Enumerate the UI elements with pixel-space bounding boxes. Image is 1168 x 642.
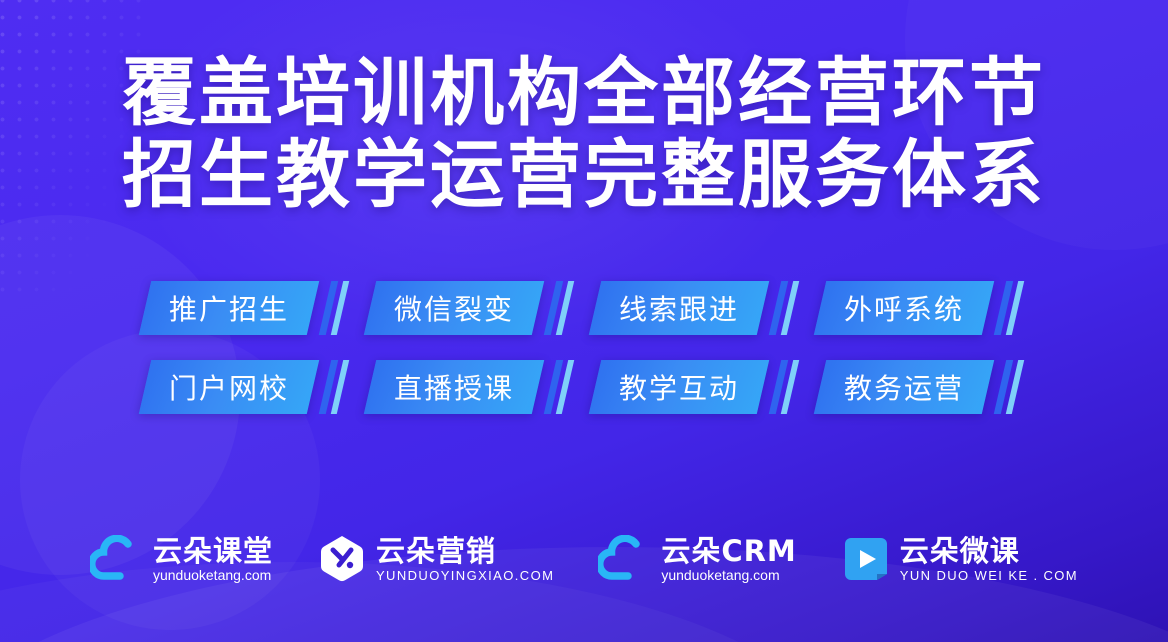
slash-separator-icon — [775, 360, 798, 414]
feature-tag[interactable]: 教学互动 — [589, 360, 769, 414]
feature-tag-row-2: 门户网校 直播授课 教学互动 教务运营 — [0, 360, 1168, 414]
slash-separator-icon — [1000, 360, 1023, 414]
headline-block: 覆盖培训机构全部经营环节 招生教学运营完整服务体系 — [0, 52, 1168, 216]
feature-tag-unit[interactable]: 门户网校 — [145, 360, 348, 414]
feature-tag-label: 教务运营 — [844, 367, 964, 407]
slash-separator-icon — [550, 281, 573, 335]
logo-name: 云朵课堂 — [153, 535, 273, 567]
cloud-icon — [90, 535, 144, 583]
feature-tag[interactable]: 直播授课 — [364, 360, 544, 414]
feature-tag-unit[interactable]: 推广招生 — [145, 281, 348, 335]
cloud-icon — [598, 535, 652, 583]
feature-tag[interactable]: 门户网校 — [139, 360, 319, 414]
feature-tag-label: 门户网校 — [169, 367, 289, 407]
hexagon-y-icon — [317, 534, 367, 584]
logo-text-block: 云朵CRM yunduoketang.com — [661, 535, 796, 584]
feature-tag-unit[interactable]: 教务运营 — [820, 360, 1023, 414]
product-logo-yunduocrm[interactable]: 云朵CRM yunduoketang.com — [598, 535, 796, 584]
product-logo-yunduoketang[interactable]: 云朵课堂 yunduoketang.com — [90, 535, 273, 584]
product-logo-yunduoyingxiao[interactable]: 云朵营销 YUNDUOYINGXIAO.COM — [317, 534, 554, 584]
feature-tag[interactable]: 教务运营 — [814, 360, 994, 414]
feature-tag-row-1: 推广招生 微信裂变 线索跟进 外呼系统 — [0, 281, 1168, 335]
product-logo-yunduoweike[interactable]: 云朵微课 YUN DUO WEI KE . COM — [841, 534, 1078, 584]
play-icon — [841, 534, 891, 584]
feature-tag-label: 线索跟进 — [619, 288, 739, 328]
feature-tag-label: 微信裂变 — [394, 288, 514, 328]
feature-tag[interactable]: 线索跟进 — [589, 281, 769, 335]
slash-separator-icon — [325, 360, 348, 414]
feature-tag-unit[interactable]: 线索跟进 — [595, 281, 798, 335]
logo-text-block: 云朵微课 YUN DUO WEI KE . COM — [900, 535, 1078, 584]
headline-line-2: 招生教学运营完整服务体系 — [0, 134, 1168, 216]
feature-tag-label: 外呼系统 — [844, 288, 964, 328]
feature-tag-unit[interactable]: 教学互动 — [595, 360, 798, 414]
feature-tag-label: 推广招生 — [169, 288, 289, 328]
slash-separator-icon — [775, 281, 798, 335]
feature-tag-rows: 推广招生 微信裂变 线索跟进 外呼系统 — [0, 281, 1168, 439]
product-logo-strip: 云朵课堂 yunduoketang.com 云朵营销 YUNDUOYINGXIA… — [0, 534, 1168, 584]
logo-name: 云朵微课 — [900, 535, 1078, 567]
logo-text-block: 云朵营销 YUNDUOYINGXIAO.COM — [376, 535, 554, 584]
slash-separator-icon — [325, 281, 348, 335]
slash-separator-icon — [1000, 281, 1023, 335]
logo-url: YUN DUO WEI KE . COM — [900, 567, 1078, 584]
feature-tag[interactable]: 微信裂变 — [364, 281, 544, 335]
feature-tag-label: 直播授课 — [394, 367, 514, 407]
logo-name: 云朵营销 — [376, 535, 554, 567]
feature-tag-unit[interactable]: 微信裂变 — [370, 281, 573, 335]
logo-name: 云朵CRM — [661, 535, 796, 567]
feature-tag[interactable]: 推广招生 — [139, 281, 319, 335]
feature-tag-unit[interactable]: 直播授课 — [370, 360, 573, 414]
logo-url: yunduoketang.com — [153, 567, 273, 584]
logo-text-block: 云朵课堂 yunduoketang.com — [153, 535, 273, 584]
feature-tag-label: 教学互动 — [619, 367, 739, 407]
headline-line-1: 覆盖培训机构全部经营环节 — [0, 52, 1168, 134]
logo-url: YUNDUOYINGXIAO.COM — [376, 567, 554, 584]
logo-url: yunduoketang.com — [661, 567, 796, 584]
slash-separator-icon — [550, 360, 573, 414]
promo-banner: 覆盖培训机构全部经营环节 招生教学运营完整服务体系 推广招生 微信裂变 线索跟进 — [0, 0, 1168, 642]
feature-tag[interactable]: 外呼系统 — [814, 281, 994, 335]
feature-tag-unit[interactable]: 外呼系统 — [820, 281, 1023, 335]
